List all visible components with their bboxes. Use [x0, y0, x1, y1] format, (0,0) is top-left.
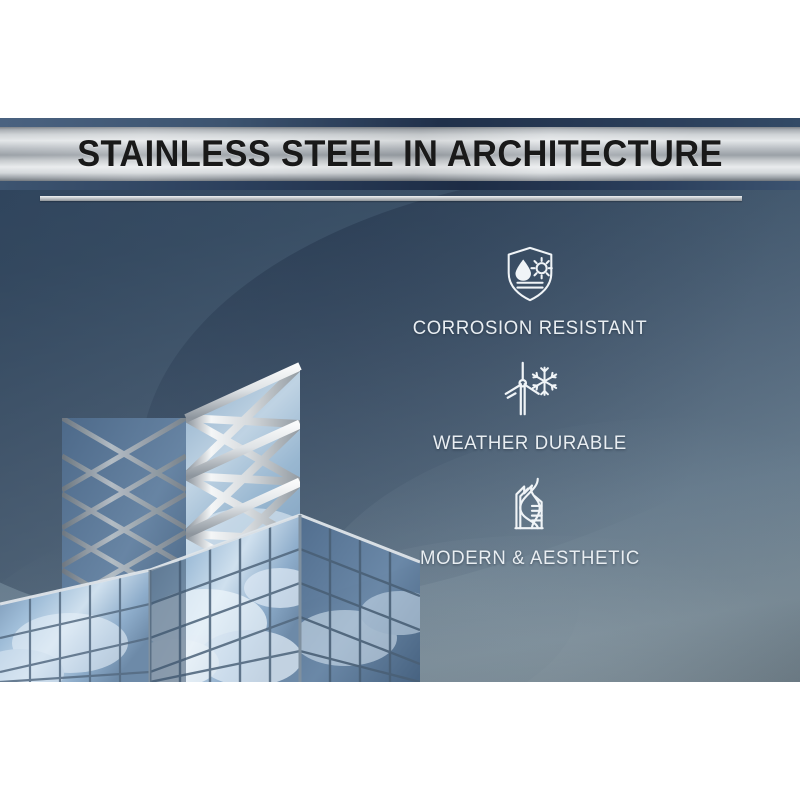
shield-droplet-sun-icon — [499, 243, 561, 305]
feature-label: MODERN & AESTHETIC — [407, 547, 654, 570]
banner-top-edge — [0, 118, 800, 127]
accent-line — [40, 196, 742, 201]
feature-label: CORROSION RESISTANT — [407, 317, 654, 340]
feature-item-modern-aesthetic[interactable]: MODERN & AESTHETIC — [400, 473, 660, 570]
feature-list: CORROSION RESISTANT — [400, 243, 660, 588]
twisted-tower-icon — [499, 473, 561, 535]
poster-canvas: CORROSION RESISTANT — [0, 0, 800, 800]
building-illustration — [0, 118, 420, 682]
content-panel: CORROSION RESISTANT — [0, 118, 800, 682]
wind-turbine-snowflake-icon — [499, 358, 561, 420]
page-title: STAINLESS STEEL IN ARCHITECTURE — [28, 127, 772, 181]
title-banner: STAINLESS STEEL IN ARCHITECTURE — [0, 118, 800, 190]
feature-label: WEATHER DURABLE — [407, 432, 654, 455]
banner-bottom-edge — [0, 181, 800, 190]
feature-item-corrosion-resistant[interactable]: CORROSION RESISTANT — [400, 243, 660, 340]
feature-item-weather-durable[interactable]: WEATHER DURABLE — [400, 358, 660, 455]
